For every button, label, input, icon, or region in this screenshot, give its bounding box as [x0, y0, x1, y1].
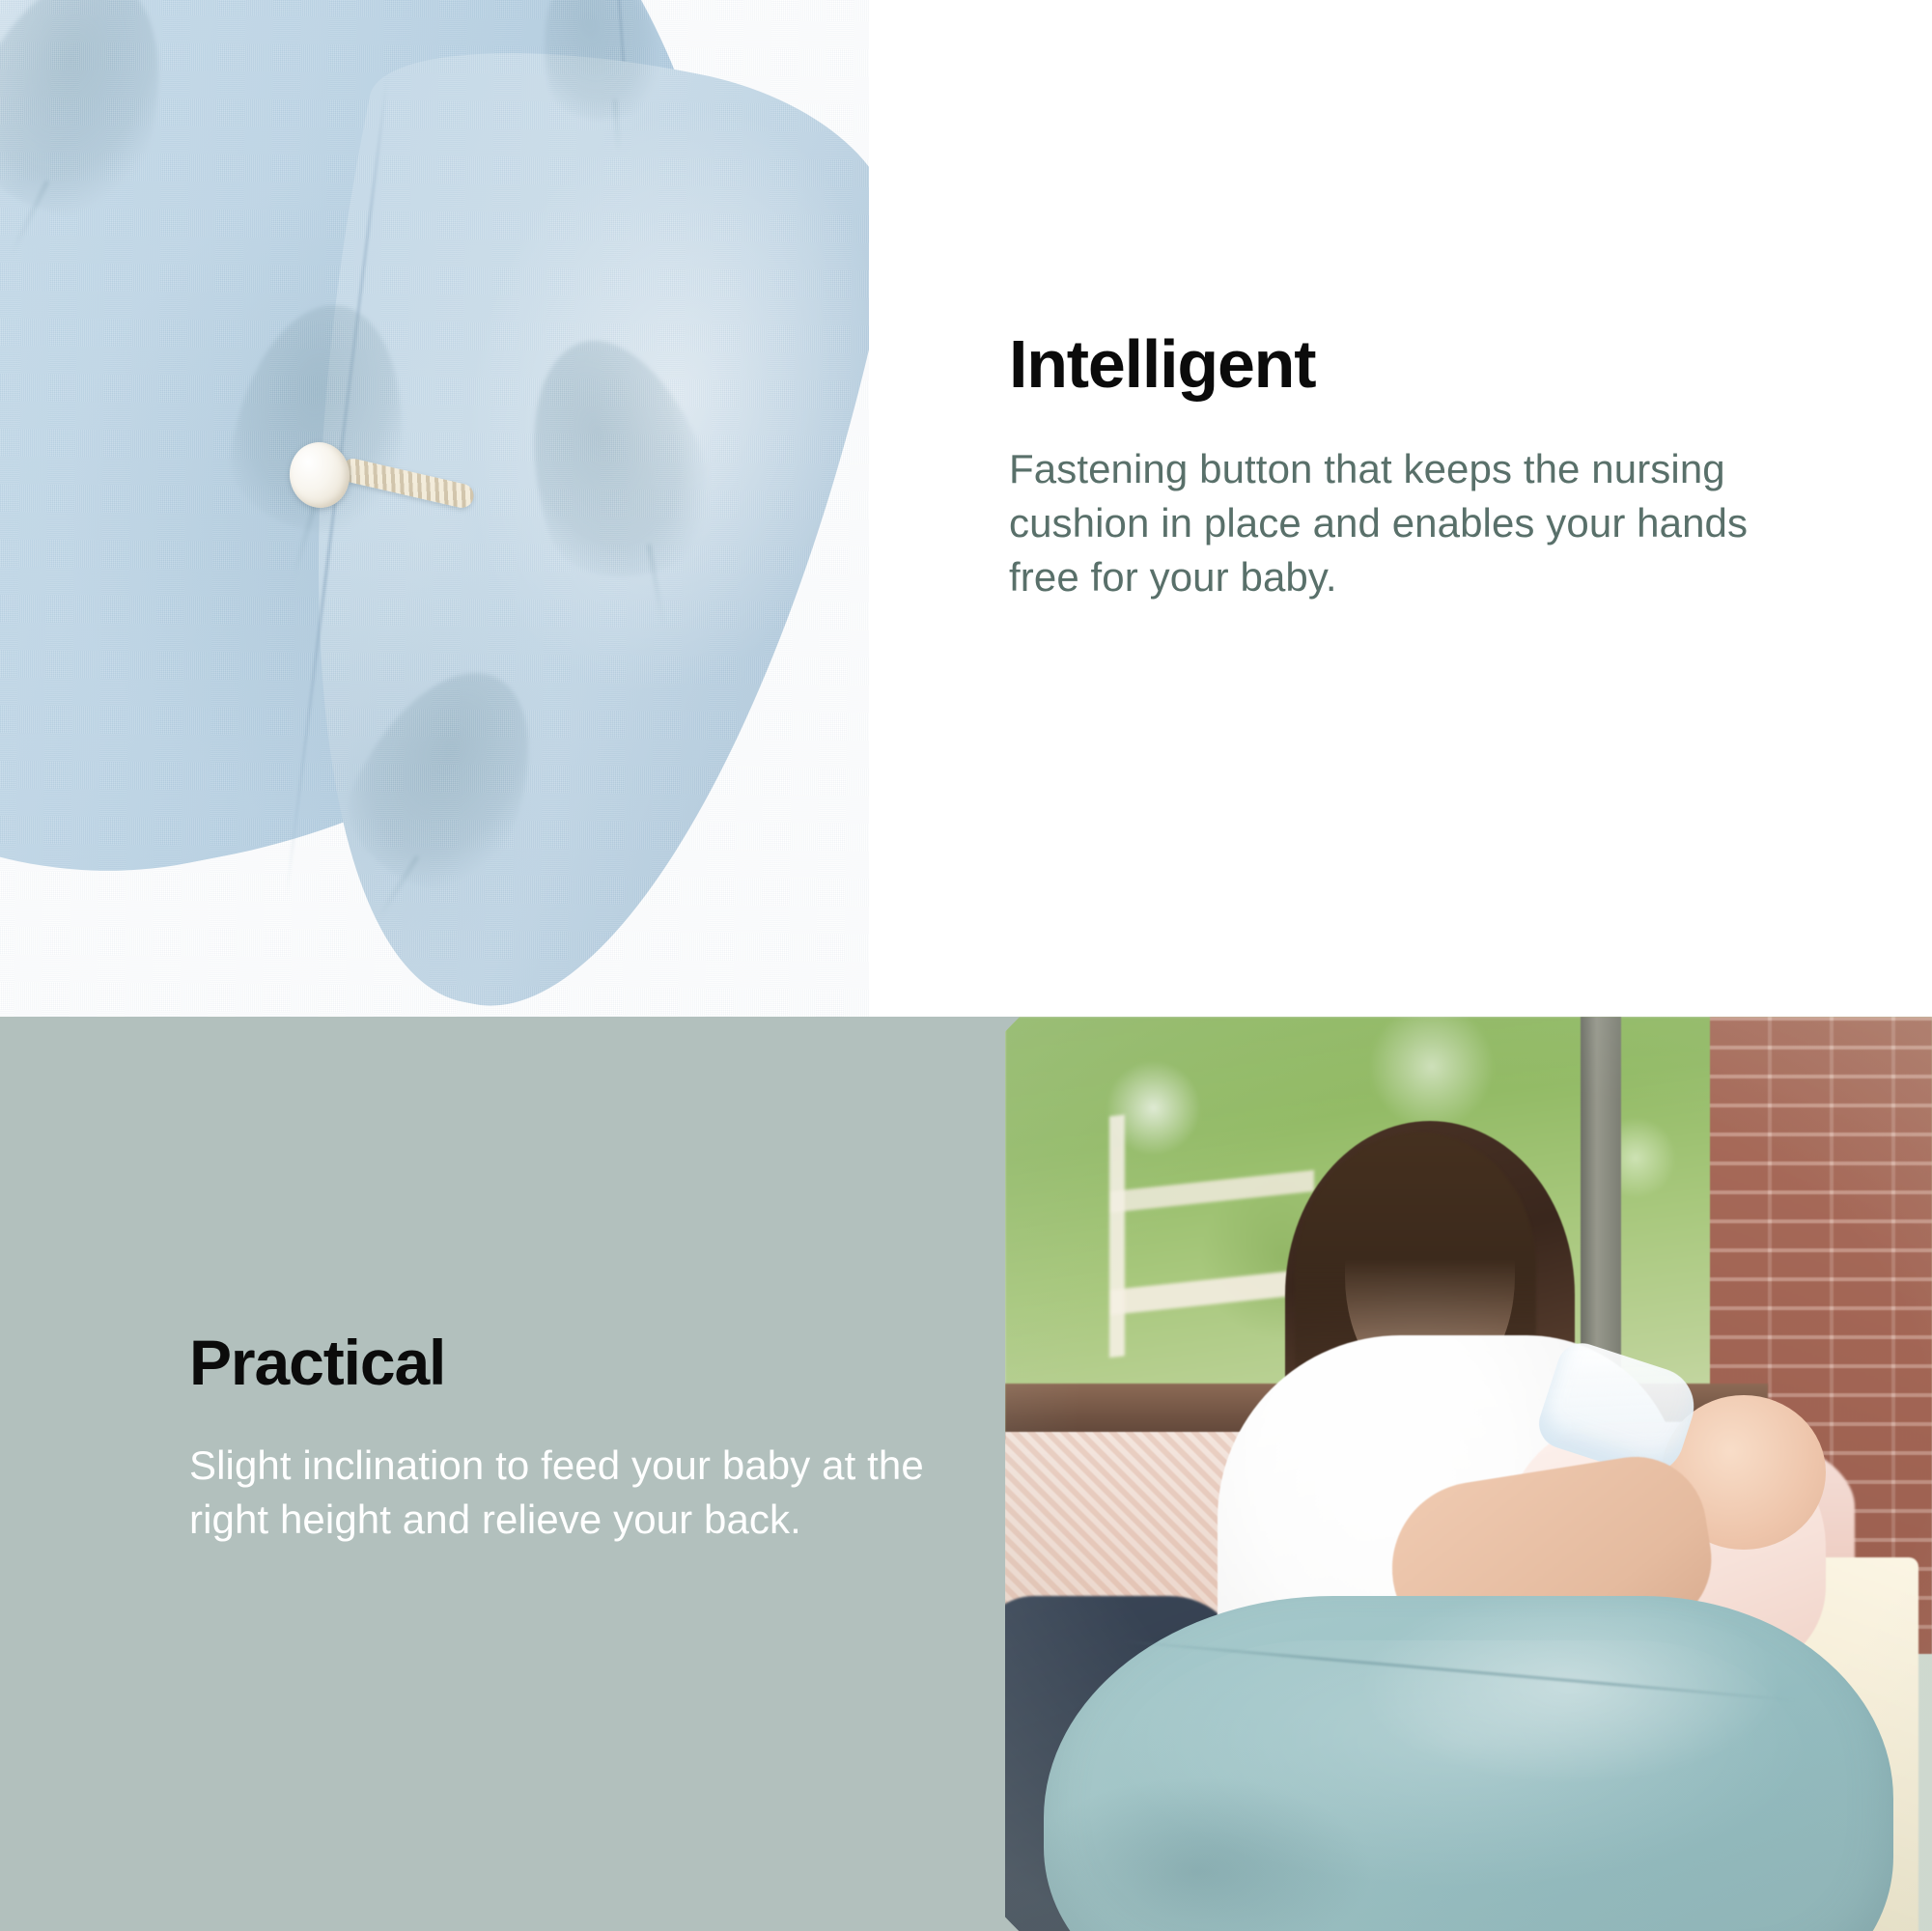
marketing-panel: Intelligent Fastening button that keeps … — [0, 0, 1932, 1931]
intelligent-heading: Intelligent — [1009, 330, 1781, 398]
section-intelligent: Intelligent Fastening button that keeps … — [0, 0, 1932, 1017]
practical-text-block: Practical Slight inclination to feed you… — [189, 1330, 981, 1547]
intelligent-body: Fastening button that keeps the nursing … — [1009, 442, 1752, 604]
pergola-structure — [1109, 1095, 1314, 1357]
intelligent-text-block: Intelligent Fastening button that keeps … — [1009, 330, 1781, 604]
cushion-button-closeup-image — [0, 0, 869, 1017]
mother-feeding-baby-image — [1005, 1017, 1932, 1931]
elastic-loop — [339, 457, 476, 511]
fastening-button — [290, 436, 492, 533]
practical-body: Slight inclination to feed your baby at … — [189, 1439, 952, 1547]
photo-scene — [1005, 1017, 1932, 1931]
practical-heading: Practical — [189, 1330, 981, 1394]
button-disc — [286, 438, 354, 512]
section-practical: Practical Slight inclination to feed you… — [0, 1017, 1932, 1931]
